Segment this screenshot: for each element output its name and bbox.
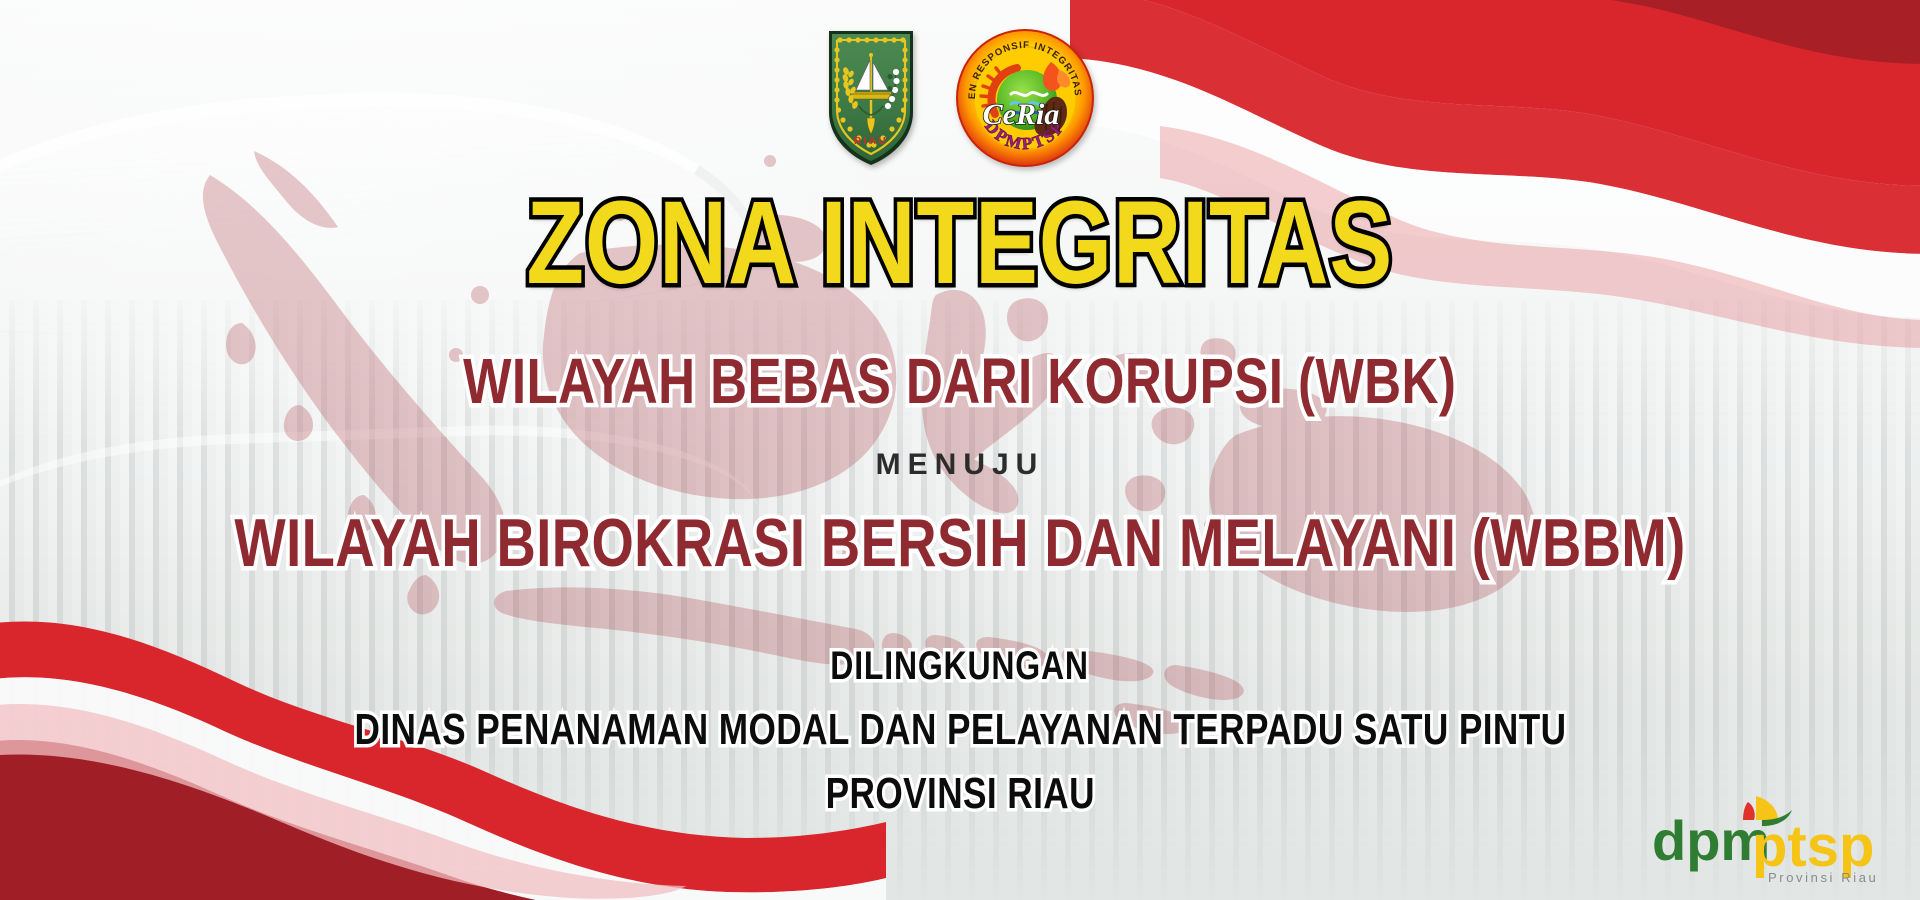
banner-text-stack: ZONA INTEGRITAS WILAYAH BEBAS DARI KORUP… — [0, 0, 1920, 900]
brand-tagline: Provinsi Riau — [1768, 870, 1878, 885]
organization-name: DINAS PENANAMAN MODAL DAN PELAYANAN TERP… — [354, 705, 1566, 755]
menuju-label: MENUJU — [876, 448, 1045, 482]
province-name: PROVINSI RIAU — [825, 769, 1094, 819]
wbk-line: WILAYAH BEBAS DARI KORUPSI (WBK) — [463, 344, 1456, 418]
wbbm-line: WILAYAH BIROKRASI BERSIH DAN MELAYANI (W… — [234, 504, 1685, 582]
page-title: ZONA INTEGRITAS — [527, 186, 1394, 302]
zona-integritas-banner: RIAU — [0, 0, 1920, 900]
scope-label: DILINGKUNGAN — [831, 644, 1089, 689]
dpmptsp-brand-logo: dpm ptsp Provinsi Riau — [1644, 790, 1894, 886]
